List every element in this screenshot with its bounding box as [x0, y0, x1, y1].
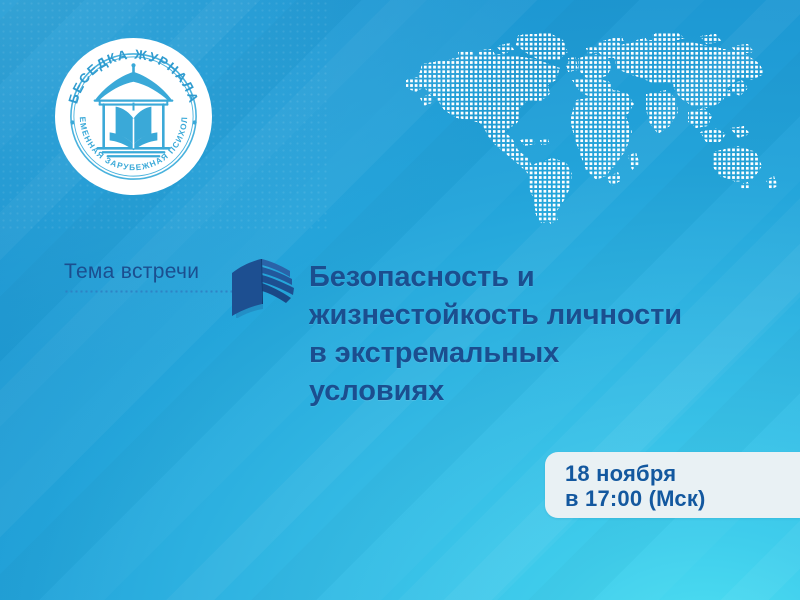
title-line-1: Безопасность и: [309, 258, 789, 296]
title-line-3: в экстремальных: [309, 334, 789, 372]
page-title: Безопасность и жизнестойкость личности в…: [309, 258, 789, 410]
date-time-text: 18 ноября в 17:00 (Мск): [565, 461, 706, 511]
open-book-icon: [228, 256, 300, 318]
title-line-2: жизнестойкость личности: [309, 296, 789, 334]
journal-logo: БЕСЕДКА ЖУРНАЛА СОВРЕМЕННАЯ ЗАРУБЕЖНАЯ П…: [54, 37, 213, 196]
topic-dotted-divider: [64, 290, 244, 293]
badge-time-line: в 17:00 (Мск): [565, 486, 706, 511]
topic-label: Тема встречи: [64, 259, 249, 285]
badge-date-line: 18 ноября: [565, 461, 706, 486]
date-time-badge: 18 ноября в 17:00 (Мск): [545, 452, 800, 518]
world-map-icon: [400, 28, 790, 228]
poster-canvas: БЕСЕДКА ЖУРНАЛА СОВРЕМЕННАЯ ЗАРУБЕЖНАЯ П…: [0, 0, 800, 600]
topic-label-block: Тема встречи: [64, 259, 249, 293]
title-line-4: условиях: [309, 372, 789, 410]
